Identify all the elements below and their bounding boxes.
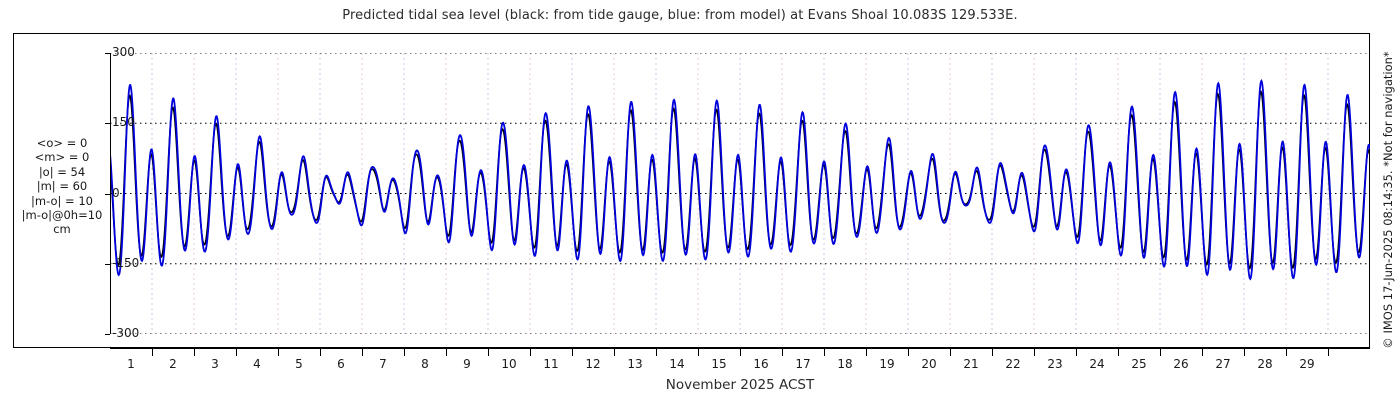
copyright-notice: © IMOS 17-Jun-2025 08:14:35. *Not for na…	[1376, 0, 1400, 400]
x-axis-tick	[1076, 349, 1077, 356]
y-axis-tick	[105, 194, 110, 195]
x-axis-tick	[908, 349, 909, 356]
x-axis-tick-label: 25	[1131, 357, 1146, 371]
x-axis-tick	[530, 349, 531, 356]
plot-area	[110, 53, 1370, 334]
y-axis-tick	[105, 334, 110, 335]
y-axis-tick	[105, 53, 110, 54]
x-axis-tick-label: 2	[169, 357, 177, 371]
x-axis-tick	[404, 349, 405, 356]
tide-chart-page: Predicted tidal sea level (black: from t…	[0, 0, 1400, 400]
x-axis-tick-label: 23	[1047, 357, 1062, 371]
x-axis-tick-label: 11	[543, 357, 558, 371]
stat-line: cm	[14, 222, 110, 236]
x-axis-tick-label: 21	[963, 357, 978, 371]
x-axis-tick-label: 13	[627, 357, 642, 371]
stat-line: <m> = 0	[14, 150, 110, 164]
x-axis-tick	[614, 349, 615, 356]
x-axis-tick-label: 27	[1215, 357, 1230, 371]
stat-line: |m| = 60	[14, 179, 110, 193]
x-axis-tick	[1328, 349, 1329, 356]
x-axis-tick	[950, 349, 951, 356]
stat-line: |m-o|@0h=10	[14, 208, 110, 222]
y-axis-tick-label: 0	[112, 186, 120, 200]
tide-plot-svg	[110, 53, 1370, 334]
x-axis-tick-label: 18	[837, 357, 852, 371]
x-axis-tick	[1034, 349, 1035, 356]
x-axis-tick-label: 12	[585, 357, 600, 371]
x-axis-tick	[446, 349, 447, 356]
x-axis-tick-label: 3	[211, 357, 219, 371]
y-axis-tick-label: -150	[112, 256, 139, 270]
y-axis-tick	[105, 123, 110, 124]
x-axis-tick	[572, 349, 573, 356]
x-axis-tick	[782, 349, 783, 356]
x-axis-tick-label: 26	[1173, 357, 1188, 371]
x-axis-tick-label: 10	[501, 357, 516, 371]
x-axis-title: November 2025 ACST	[110, 377, 1370, 393]
x-axis-tick-label: 4	[253, 357, 261, 371]
x-axis-tick	[992, 349, 993, 356]
x-axis-tick-label: 1	[127, 357, 135, 371]
x-axis-tick-label: 7	[379, 357, 387, 371]
x-axis-tick	[656, 349, 657, 356]
x-axis-tick-label: 5	[295, 357, 303, 371]
stat-line: |o| = 54	[14, 165, 110, 179]
x-axis-tick-label: 29	[1299, 357, 1314, 371]
y-axis-tick-label: 150	[112, 115, 135, 129]
x-axis-tick-label: 14	[669, 357, 684, 371]
x-axis-tick	[1244, 349, 1245, 356]
x-axis-tick-label: 9	[463, 357, 471, 371]
page-title: Predicted tidal sea level (black: from t…	[0, 8, 1360, 23]
x-axis-tick-label: 6	[337, 357, 345, 371]
x-axis-tick-label: 28	[1257, 357, 1272, 371]
x-axis-tick-label: 20	[921, 357, 936, 371]
x-axis-tick	[698, 349, 699, 356]
x-axis-tick	[194, 349, 195, 356]
copyright-text: © IMOS 17-Jun-2025 08:14:35. *Not for na…	[1381, 51, 1395, 348]
x-axis-tick	[488, 349, 489, 356]
x-axis-tick	[362, 349, 363, 356]
stat-line: <o> = 0	[14, 136, 110, 150]
x-axis-tick-label: 22	[1005, 357, 1020, 371]
x-axis-tick-label: 24	[1089, 357, 1104, 371]
x-axis-tick	[866, 349, 867, 356]
x-axis-tick	[1286, 349, 1287, 356]
x-axis-tick-label: 17	[795, 357, 810, 371]
x-axis-tick	[1160, 349, 1161, 356]
x-axis-tick	[740, 349, 741, 356]
x-axis-tick	[824, 349, 825, 356]
x-axis-tick	[320, 349, 321, 356]
y-axis-spine	[110, 53, 111, 334]
y-axis-tick	[105, 264, 110, 265]
x-axis-tick-label: 19	[879, 357, 894, 371]
x-axis-tick	[152, 349, 153, 356]
x-axis-tick-label: 16	[753, 357, 768, 371]
y-axis-tick-label: 300	[112, 45, 135, 59]
x-axis-tick-label: 15	[711, 357, 726, 371]
x-axis-tick	[1202, 349, 1203, 356]
statistics-panel: <o> = 0<m> = 0|o| = 54|m| = 60|m-o| = 10…	[14, 136, 110, 237]
x-axis-tick	[236, 349, 237, 356]
x-axis-tick	[278, 349, 279, 356]
x-axis-tick	[1118, 349, 1119, 356]
y-axis-tick-label: -300	[112, 326, 139, 340]
stat-line: |m-o| = 10	[14, 194, 110, 208]
x-axis-tick-label: 8	[421, 357, 429, 371]
